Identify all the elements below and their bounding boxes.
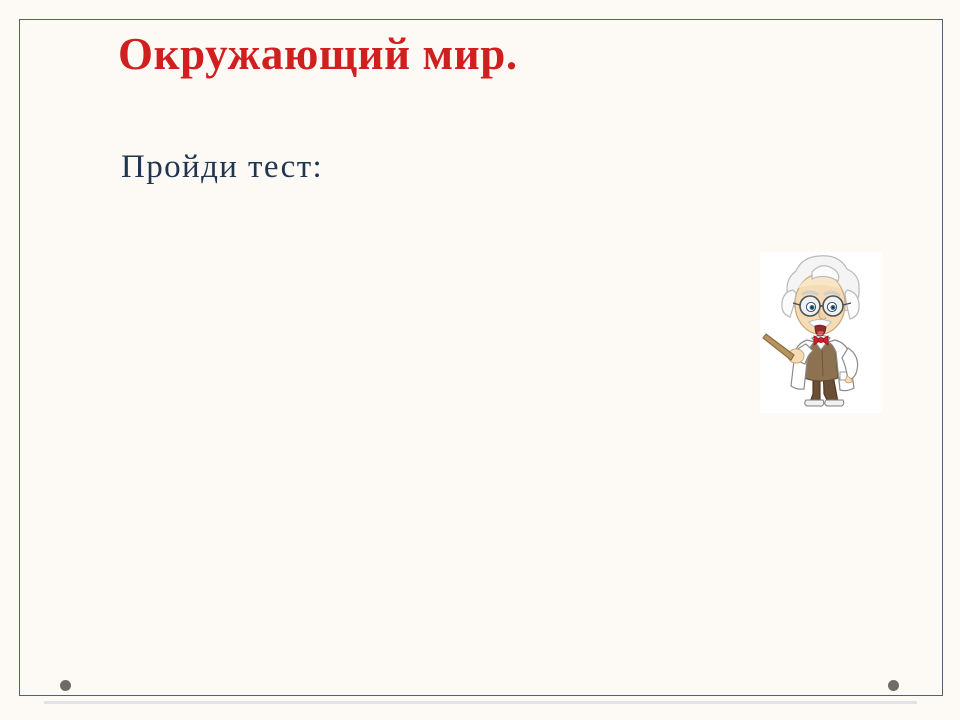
page-title: Окружающий мир.	[118, 31, 518, 78]
slide-canvas: Окружающий мир. Пройди тест:	[0, 0, 960, 720]
frame-underline-accent	[44, 701, 917, 704]
decor-dot-right	[888, 680, 899, 691]
decor-dot-left	[60, 680, 71, 691]
professor-icon	[760, 252, 882, 413]
professor-illustration	[760, 252, 882, 413]
subtitle-prompt: Пройди тест:	[121, 149, 323, 185]
